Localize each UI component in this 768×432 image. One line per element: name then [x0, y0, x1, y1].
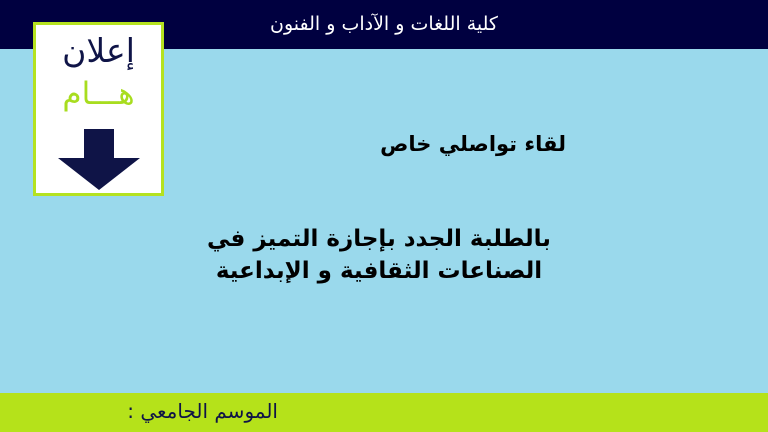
announcement-word-ham: هـــام [36, 77, 161, 111]
announcement-card: إعلان هـــام [33, 22, 164, 196]
academic-season-label: الموسم الجامعي : [0, 393, 768, 432]
meeting-subtitle: لقاء تواصلي خاص [380, 132, 566, 156]
meeting-body-text: بالطلبة الجدد بإجازة التميز في الصناعات … [0, 224, 768, 287]
arrow-down-icon [56, 129, 142, 191]
announcement-slide: كلية اللغات و الآداب و الفنون إعلان هـــ… [0, 0, 768, 432]
announcement-word-ilan: إعلان [36, 33, 161, 69]
